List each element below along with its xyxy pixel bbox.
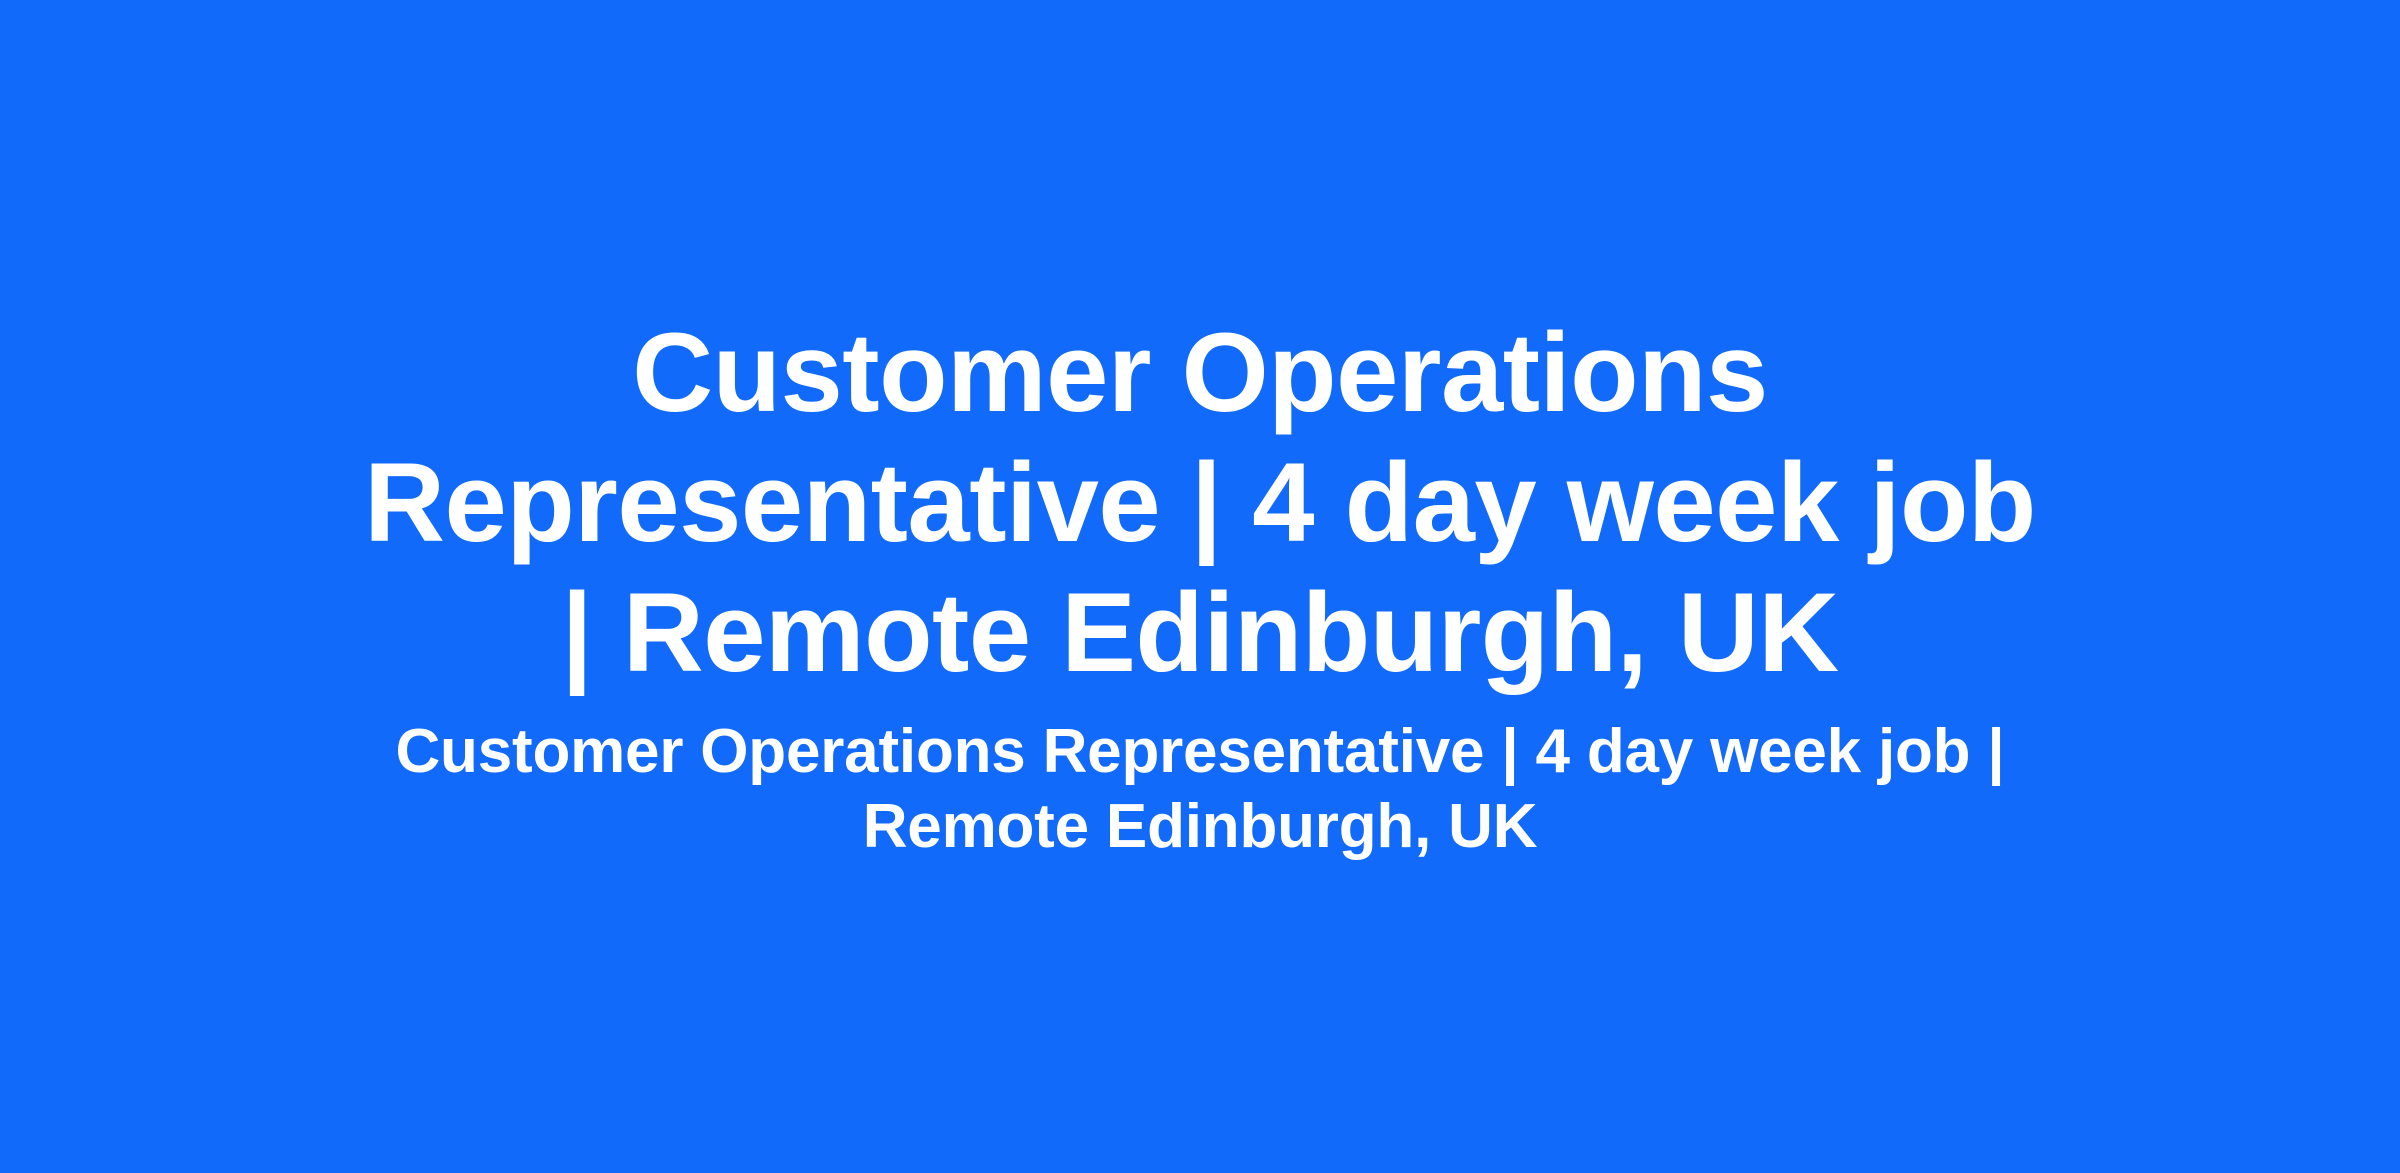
card-content-block: Customer Operations Representative | 4 d… (160, 308, 2240, 865)
share-card: Customer Operations Representative | 4 d… (0, 0, 2400, 1173)
page-title: Customer Operations Representative | 4 d… (350, 308, 2050, 698)
page-subtitle: Customer Operations Representative | 4 d… (330, 714, 2070, 865)
